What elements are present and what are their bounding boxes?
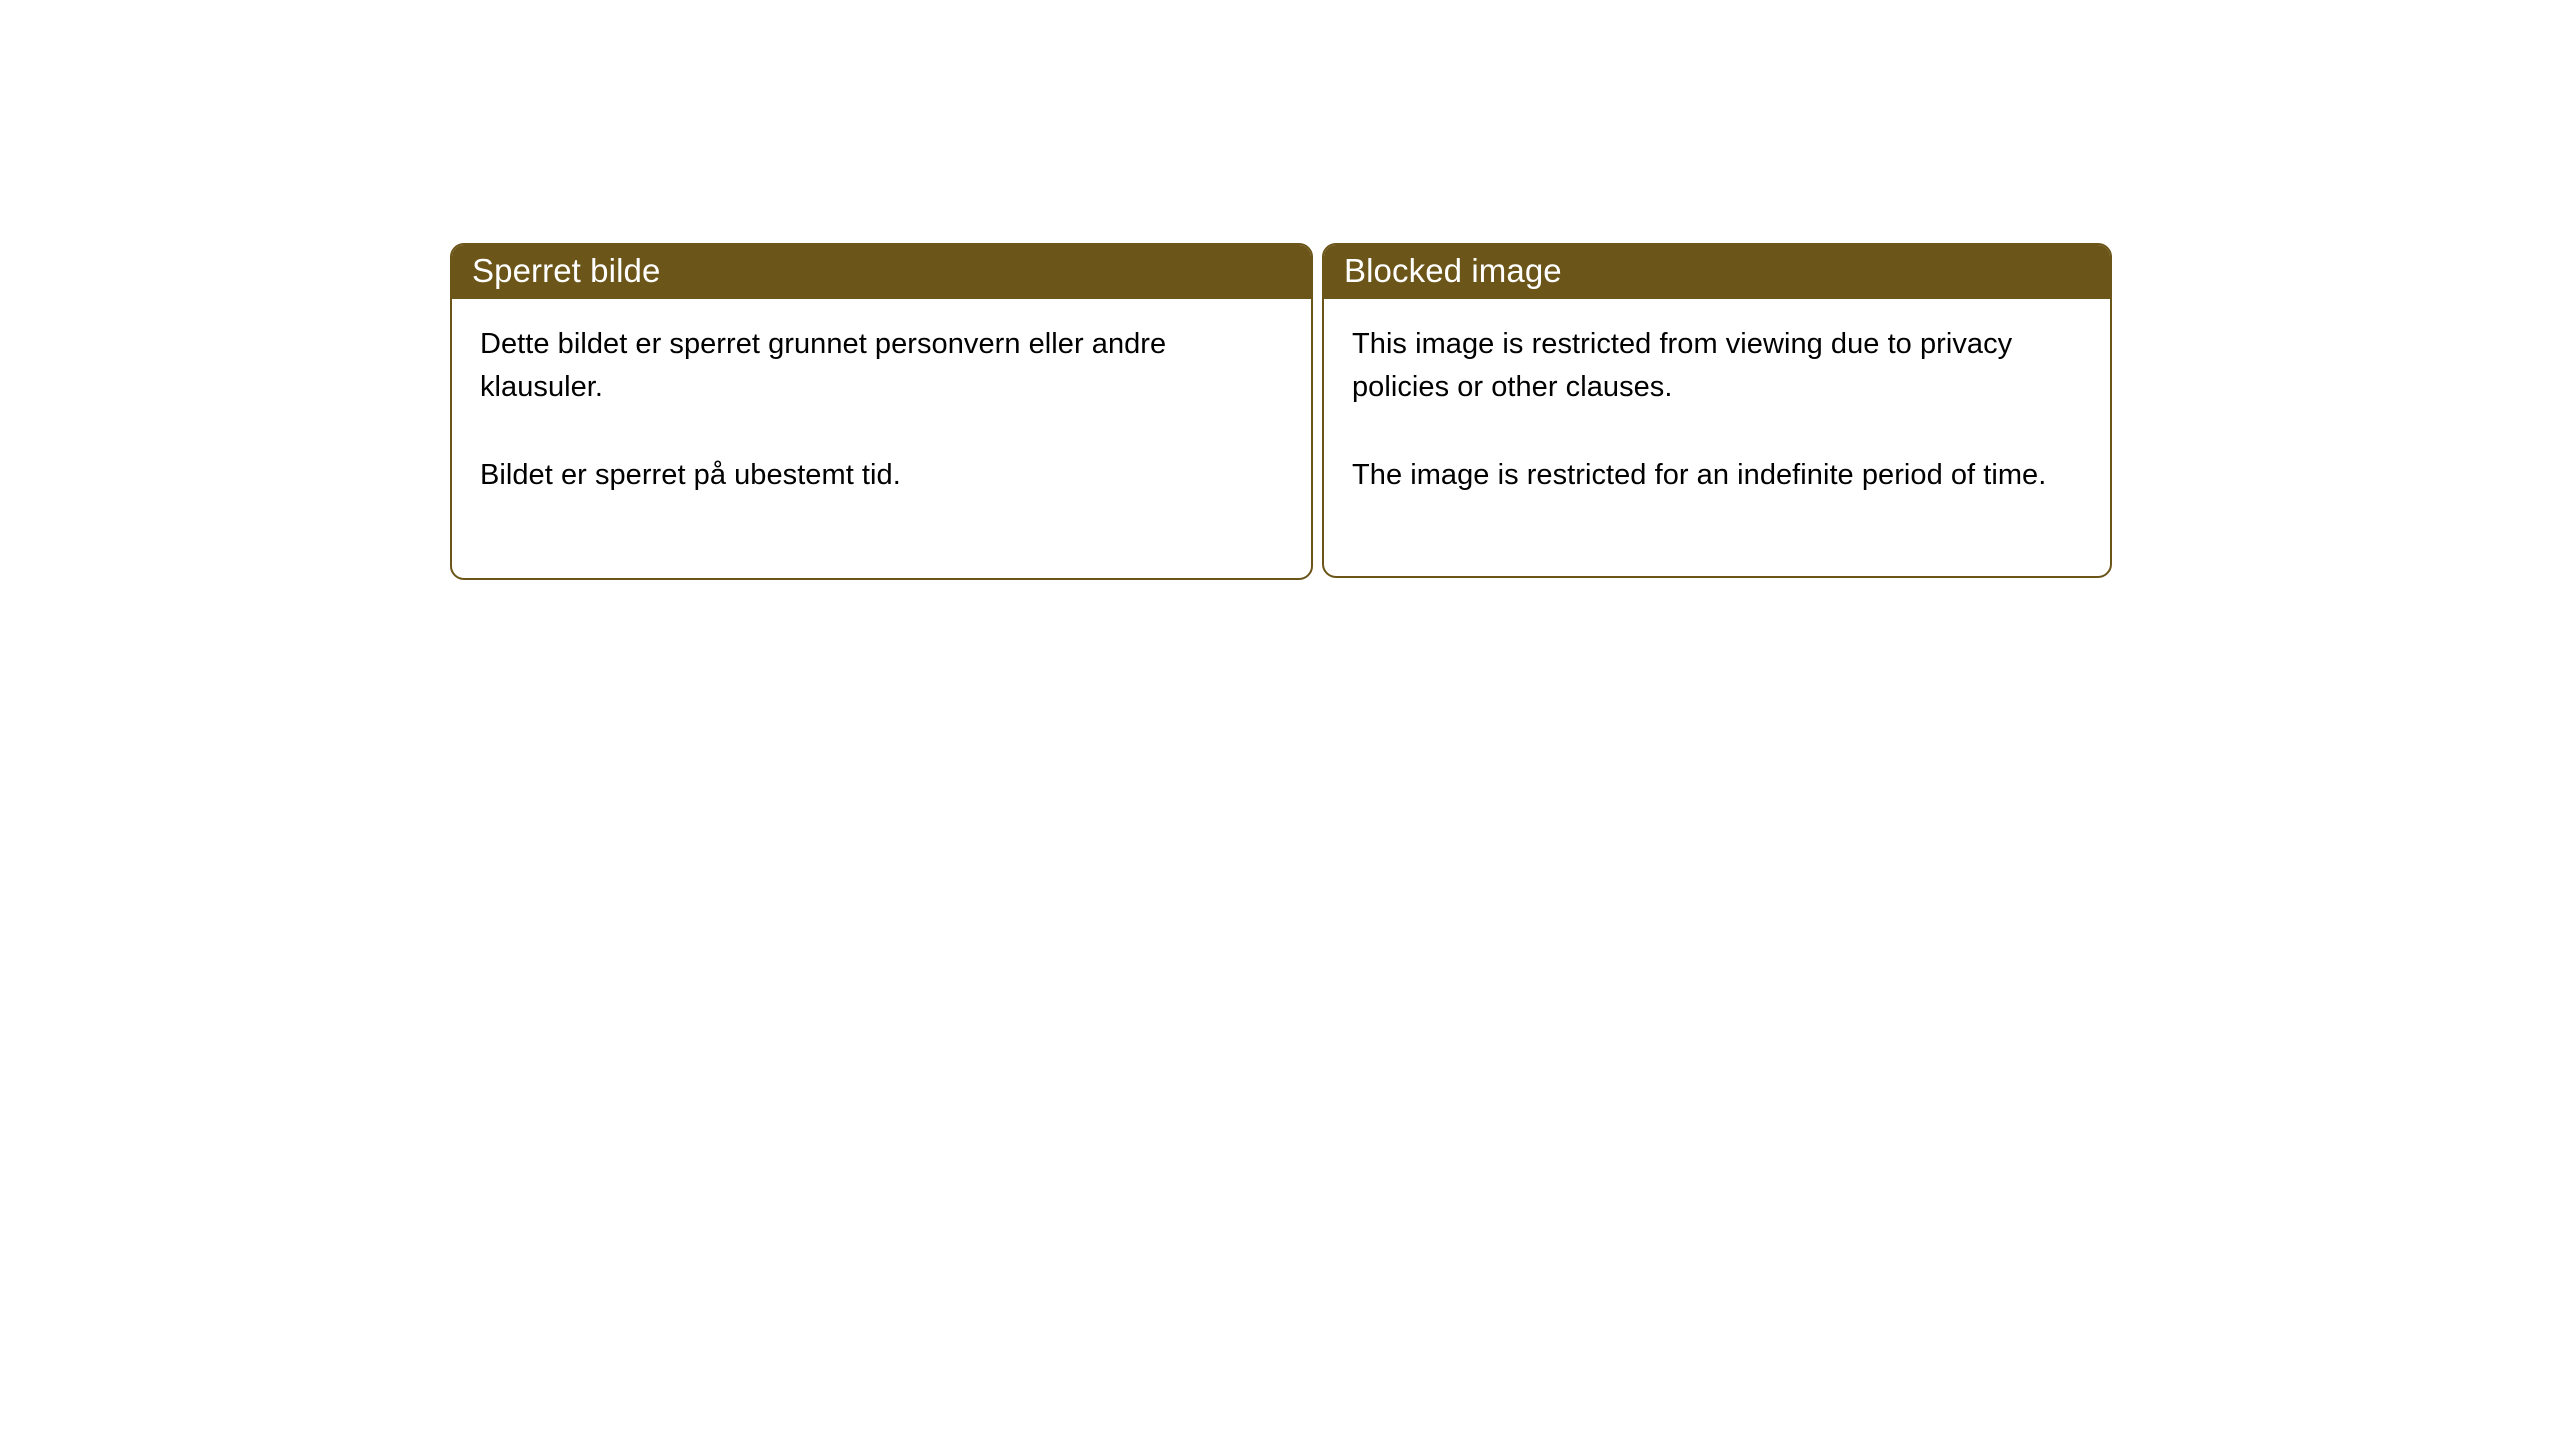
blocked-image-card-norwegian: Sperret bilde Dette bildet er sperret gr… — [450, 243, 1313, 580]
card-body-norwegian: Dette bildet er sperret grunnet personve… — [452, 299, 1311, 578]
card-paragraph-duration-english: The image is restricted for an indefinit… — [1352, 454, 2084, 497]
blocked-image-notice-area: Sperret bilde Dette bildet er sperret gr… — [450, 243, 2112, 580]
card-title-norwegian: Sperret bilde — [472, 253, 660, 289]
card-title-english: Blocked image — [1344, 253, 1562, 289]
blocked-image-card-english: Blocked image This image is restricted f… — [1322, 243, 2112, 578]
card-paragraph-reason-norwegian: Dette bildet er sperret grunnet personve… — [480, 323, 1285, 409]
card-paragraph-reason-english: This image is restricted from viewing du… — [1352, 323, 2084, 409]
card-paragraph-duration-norwegian: Bildet er sperret på ubestemt tid. — [480, 454, 1285, 497]
card-header-english: Blocked image — [1322, 243, 2112, 299]
card-body-english: This image is restricted from viewing du… — [1324, 299, 2110, 576]
card-header-norwegian: Sperret bilde — [450, 243, 1313, 299]
